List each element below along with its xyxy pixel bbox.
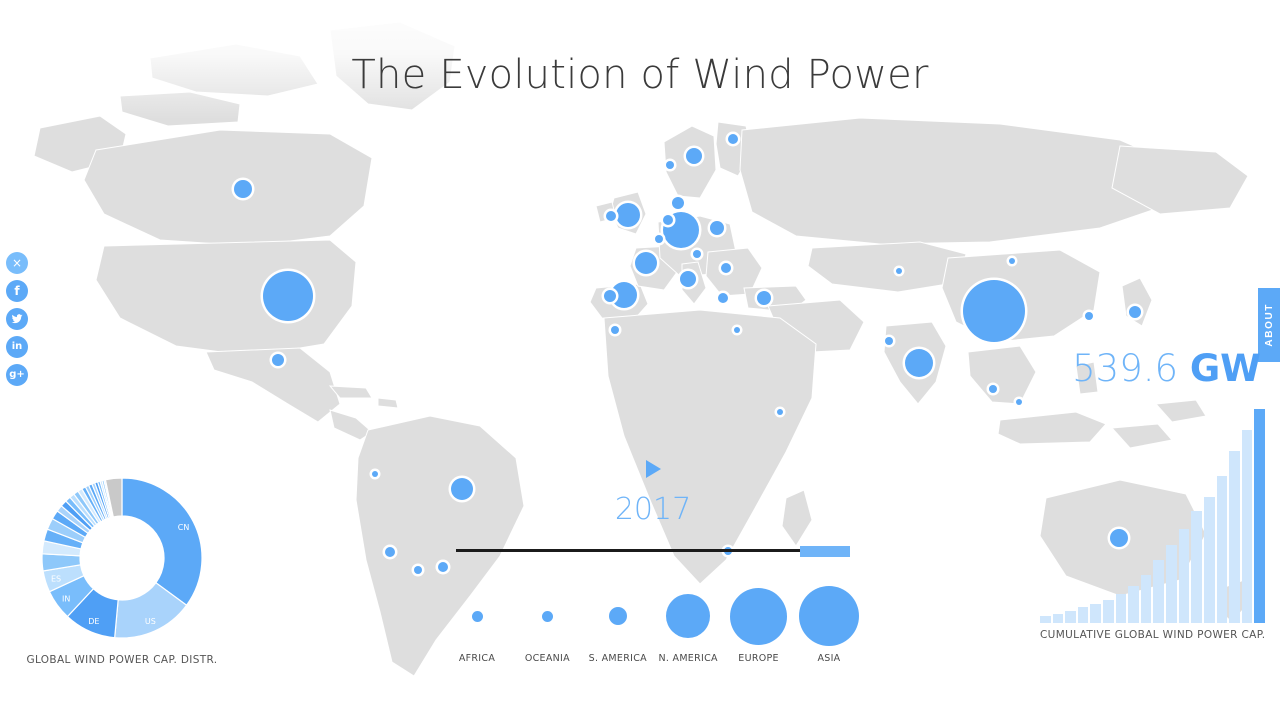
map-bubble-poland[interactable] xyxy=(710,221,724,235)
map-bubble-turkey[interactable] xyxy=(757,291,771,305)
continent-legend[interactable]: AFRICAOCEANIAS. AMERICAN. AMERICAEUROPEA… xyxy=(443,585,863,664)
linkedin-icon[interactable]: in xyxy=(6,336,28,358)
donut-slices[interactable] xyxy=(42,478,202,638)
continent-africa[interactable]: AFRICA xyxy=(443,585,511,664)
play-button[interactable] xyxy=(646,460,661,478)
page-title: The Evolution of Wind Power xyxy=(0,52,1280,98)
bar-2017[interactable] xyxy=(1254,409,1265,623)
slider-track[interactable] xyxy=(456,549,850,552)
bar-2015[interactable] xyxy=(1229,451,1240,623)
capacity-unit: GW xyxy=(1190,347,1261,390)
continent-label: OCEANIA xyxy=(525,653,570,664)
continent-bubble[interactable] xyxy=(472,611,483,622)
continent-n-america[interactable]: N. AMERICA xyxy=(654,585,722,664)
bar-2006[interactable] xyxy=(1116,594,1127,623)
bar-2005[interactable] xyxy=(1103,600,1114,623)
bar-2007[interactable] xyxy=(1128,586,1139,623)
bar-2001[interactable] xyxy=(1053,614,1064,623)
map-bubble-uruguay[interactable] xyxy=(438,562,448,572)
bar-2016[interactable] xyxy=(1242,430,1253,623)
slider-handle[interactable] xyxy=(800,546,850,557)
map-bubble-south-korea[interactable] xyxy=(1085,312,1093,320)
continent-label: N. AMERICA xyxy=(658,653,717,664)
donut-label-in: IN xyxy=(62,595,70,604)
twitter-bird-glyph xyxy=(11,313,23,325)
map-bubble-egypt[interactable] xyxy=(734,327,740,333)
bar-2003[interactable] xyxy=(1078,607,1089,623)
continent-oceania[interactable]: OCEANIA xyxy=(513,585,581,664)
map-bubble-china[interactable] xyxy=(963,280,1025,342)
year-label: 2017 xyxy=(456,492,850,527)
bar-2012[interactable] xyxy=(1191,511,1202,623)
donut-label-cn: CN xyxy=(178,523,190,532)
map-bubble-canada[interactable] xyxy=(234,180,252,198)
capacity-value: 539.6 xyxy=(1072,347,1178,390)
map-bubble-vietnam[interactable] xyxy=(1016,399,1022,405)
continent-bubble-box xyxy=(666,585,710,647)
map-bubble-mexico[interactable] xyxy=(272,354,284,366)
map-bubble-thailand[interactable] xyxy=(989,385,997,393)
social-share-rail[interactable]: × f in g+ xyxy=(6,252,28,386)
bar-2013[interactable] xyxy=(1204,497,1215,623)
map-bubble-united-states[interactable] xyxy=(263,271,313,321)
continent-bubble-box xyxy=(542,585,553,647)
timeline-control[interactable]: 2017 xyxy=(456,460,850,558)
map-bubble-france[interactable] xyxy=(635,252,657,274)
continent-bubble[interactable] xyxy=(666,594,710,638)
map-bubble-norway[interactable] xyxy=(666,161,674,169)
map-bubble-romania[interactable] xyxy=(721,263,731,273)
map-bubble-italy[interactable] xyxy=(680,271,696,287)
continent-bubble[interactable] xyxy=(542,611,553,622)
donut-slice-cn[interactable] xyxy=(122,478,202,605)
bar-2000[interactable] xyxy=(1040,616,1051,623)
map-bubble-denmark[interactable] xyxy=(672,197,684,209)
continent-bubble-box xyxy=(730,585,787,647)
bar-2004[interactable] xyxy=(1090,604,1101,623)
map-bubble-morocco[interactable] xyxy=(611,326,619,334)
map-bubble-belgium[interactable] xyxy=(655,235,663,243)
continent-bubble-box xyxy=(799,585,859,647)
donut-chart-panel: CNUSDEINES GLOBAL WIND POWER CAP. DISTR. xyxy=(22,468,222,666)
map-bubble-pakistan[interactable] xyxy=(885,337,893,345)
donut-label-es: ES xyxy=(51,574,61,583)
global-capacity-donut[interactable]: CNUSDEINES xyxy=(32,468,212,648)
bar-2002[interactable] xyxy=(1065,611,1076,623)
map-bubble-peru[interactable] xyxy=(372,471,378,477)
map-bubble-austria[interactable] xyxy=(693,250,701,258)
map-bubble-ethiopia[interactable] xyxy=(777,409,783,415)
continent-europe[interactable]: EUROPE xyxy=(725,585,793,664)
map-bubble-sweden[interactable] xyxy=(686,148,702,164)
close-icon[interactable]: × xyxy=(6,252,28,274)
bar-2010[interactable] xyxy=(1166,545,1177,623)
continent-bubble[interactable] xyxy=(799,586,859,646)
continent-bubble[interactable] xyxy=(730,588,787,645)
map-bubble-finland[interactable] xyxy=(728,134,738,144)
map-bubble-kazakhstan[interactable] xyxy=(896,268,902,274)
bar-2008[interactable] xyxy=(1141,575,1152,623)
map-bubble-russia[interactable] xyxy=(1009,258,1015,264)
continent-asia[interactable]: ASIA xyxy=(795,585,863,664)
map-bubble-united-kingdom[interactable] xyxy=(616,203,640,227)
capacity-readout: 539.6 GW xyxy=(1040,350,1265,387)
map-bubble-india[interactable] xyxy=(905,349,933,377)
googleplus-icon[interactable]: g+ xyxy=(6,364,28,386)
map-bubble-chile[interactable] xyxy=(385,547,395,557)
map-bubble-japan[interactable] xyxy=(1129,306,1141,318)
continent-label: AFRICA xyxy=(459,653,495,664)
donut-label-de: DE xyxy=(88,617,99,626)
map-bubble-ireland[interactable] xyxy=(606,211,616,221)
year-slider[interactable] xyxy=(456,544,850,558)
facebook-icon[interactable]: f xyxy=(6,280,28,302)
bar-2011[interactable] xyxy=(1179,529,1190,623)
bar-2014[interactable] xyxy=(1217,476,1228,623)
cumulative-capacity-panel: 539.6 GW CUMULATIVE GLOBAL WIND POWER CA… xyxy=(1040,350,1265,641)
donut-caption: GLOBAL WIND POWER CAP. DISTR. xyxy=(22,654,222,666)
map-bubble-netherlands[interactable] xyxy=(663,215,673,225)
about-tab-label: ABOUT xyxy=(1264,303,1275,347)
continent-bubble[interactable] xyxy=(609,607,627,625)
map-bubble-argentina[interactable] xyxy=(414,566,422,574)
continent-label: EUROPE xyxy=(738,653,779,664)
continent-label: S. AMERICA xyxy=(589,653,647,664)
continent-label: ASIA xyxy=(817,653,840,664)
cumulative-bar-chart[interactable] xyxy=(1040,401,1265,623)
twitter-icon[interactable] xyxy=(6,308,28,330)
continent-bubble-box xyxy=(472,585,483,647)
map-bubble-portugal[interactable] xyxy=(604,290,616,302)
bars-caption: CUMULATIVE GLOBAL WIND POWER CAP. xyxy=(1040,629,1265,641)
continent-s-america[interactable]: S. AMERICA xyxy=(584,585,652,664)
bar-2009[interactable] xyxy=(1153,560,1164,623)
continent-bubble-box xyxy=(609,585,627,647)
wind-power-dashboard: The Evolution of Wind Power × f in g+ AB… xyxy=(0,0,1280,701)
donut-label-us: US xyxy=(145,617,156,626)
map-bubble-greece[interactable] xyxy=(718,293,728,303)
